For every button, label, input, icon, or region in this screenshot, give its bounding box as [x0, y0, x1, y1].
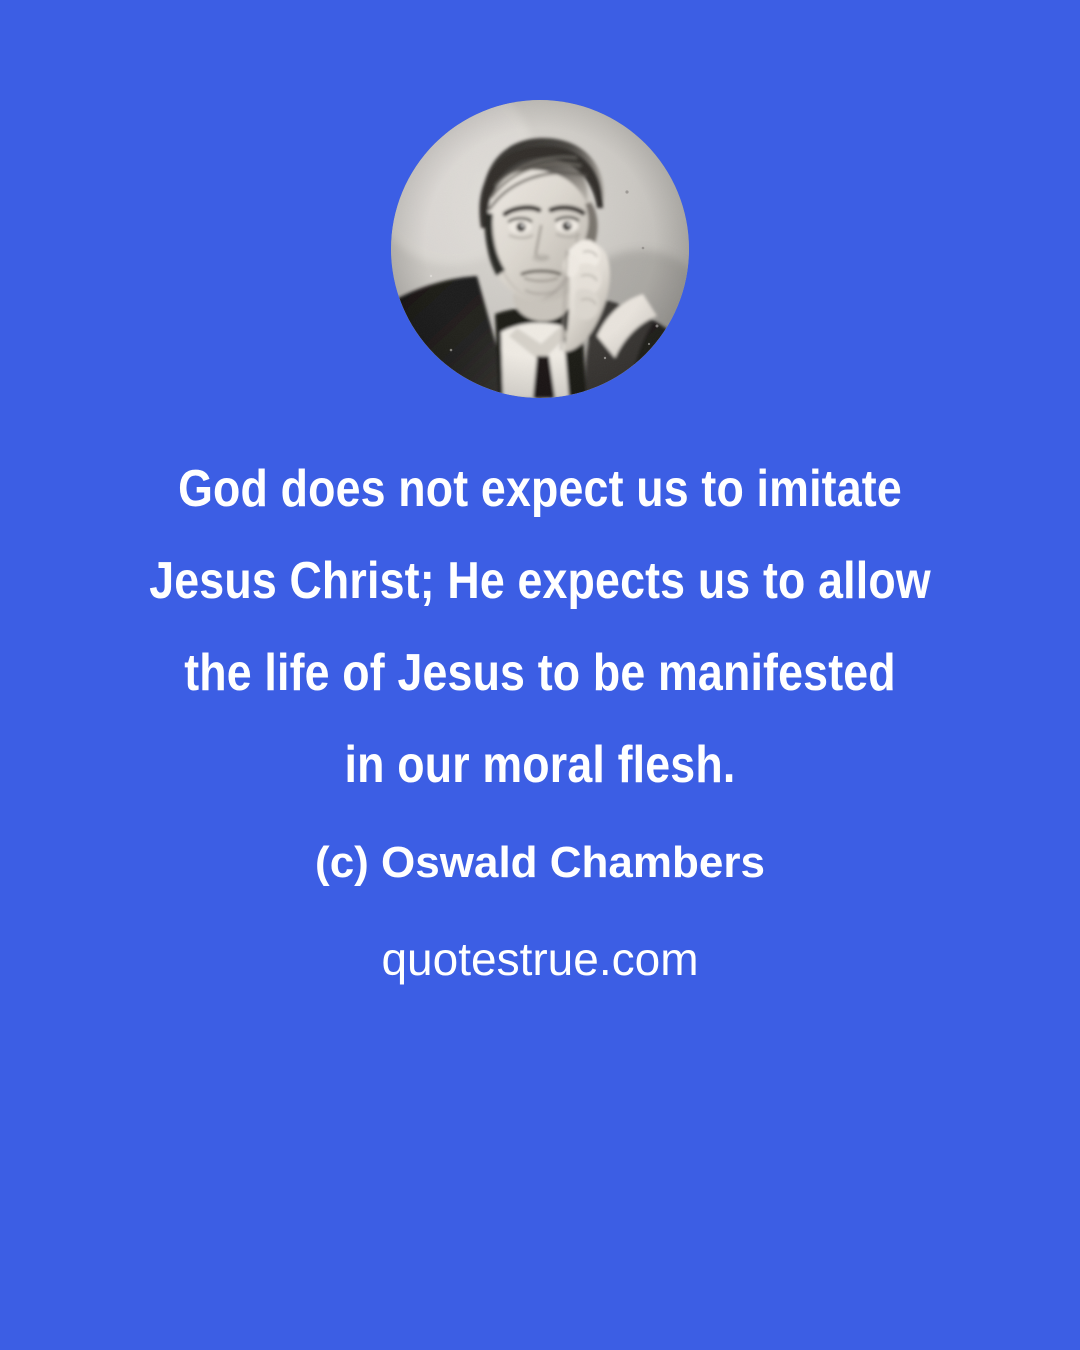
quote-line: in our moral flesh. — [76, 719, 1005, 811]
author-portrait-photo — [391, 100, 689, 398]
quote-card: God does not expect us to imitate Jesus … — [0, 0, 1080, 1350]
quote-line: Jesus Christ; He expects us to allow — [76, 535, 1005, 627]
quote-line: God does not expect us to imitate — [76, 443, 1005, 535]
quote-line: the life of Jesus to be manifested — [76, 627, 1005, 719]
source-website[interactable]: quotestrue.com — [0, 928, 1080, 990]
author-attribution: (c) Oswald Chambers — [0, 832, 1080, 894]
portrait-container — [391, 100, 689, 398]
quote-text: God does not expect us to imitate Jesus … — [0, 443, 1080, 811]
